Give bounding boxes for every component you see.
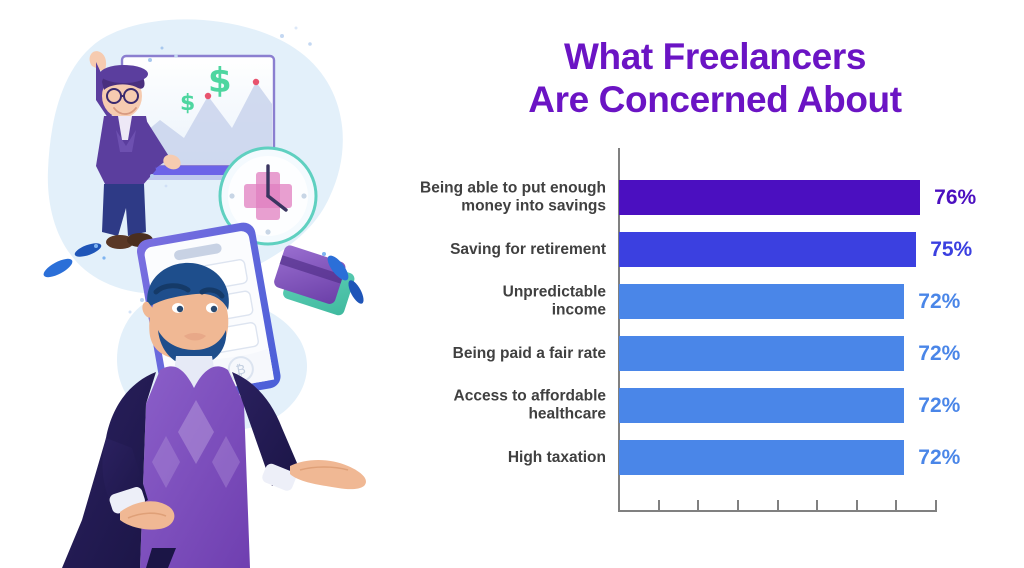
bar-chart: Being able to put enough money into savi…: [370, 140, 1010, 530]
bar: [619, 336, 904, 371]
x-axis-tick: [895, 500, 897, 512]
bar-row: Access to affordable healthcare72%: [370, 388, 1010, 423]
bar-row: Being able to put enough money into savi…: [370, 180, 1010, 215]
x-axis-tick: [935, 500, 937, 512]
x-axis-tick: [777, 500, 779, 512]
title-line-2: Are Concerned About: [430, 79, 1000, 122]
infographic-canvas: $ $: [0, 0, 1024, 568]
bar-category-label: Access to affordable healthcare: [376, 387, 606, 424]
bar-category-label: Being able to put enough money into savi…: [376, 179, 606, 216]
bar: [619, 440, 904, 475]
bar-row: Unpredictable income72%: [370, 284, 1010, 319]
x-axis-tick: [697, 500, 699, 512]
bar: [619, 180, 920, 215]
bar-value-label: 76%: [934, 186, 976, 210]
bar: [619, 232, 916, 267]
bar-category-label: Being paid a fair rate: [376, 344, 606, 362]
bar-row: Saving for retirement75%: [370, 232, 1010, 267]
bar-row: Being paid a fair rate72%: [370, 336, 1010, 371]
x-axis-tick: [658, 500, 660, 512]
bar-value-label: 72%: [918, 342, 960, 366]
bar-category-label: Unpredictable income: [376, 283, 606, 320]
bar-row: High taxation72%: [370, 440, 1010, 475]
x-axis-tick: [856, 500, 858, 512]
x-axis-tick: [618, 500, 620, 512]
freelancer-concerns-illustration: $ $: [0, 0, 400, 568]
title-line-1: What Freelancers: [430, 36, 1000, 79]
bar-value-label: 72%: [918, 290, 960, 314]
bar-category-label: High taxation: [376, 448, 606, 466]
x-axis-tick: [816, 500, 818, 512]
svg-text:$: $: [180, 91, 195, 116]
bar: [619, 284, 904, 319]
bar-value-label: 72%: [918, 446, 960, 470]
page-title: What Freelancers Are Concerned About: [430, 36, 1000, 121]
bar: [619, 388, 904, 423]
svg-text:$: $: [208, 61, 232, 101]
x-axis-tick: [737, 500, 739, 512]
bar-value-label: 75%: [930, 238, 972, 262]
bar-category-label: Saving for retirement: [376, 240, 606, 258]
bar-value-label: 72%: [918, 394, 960, 418]
